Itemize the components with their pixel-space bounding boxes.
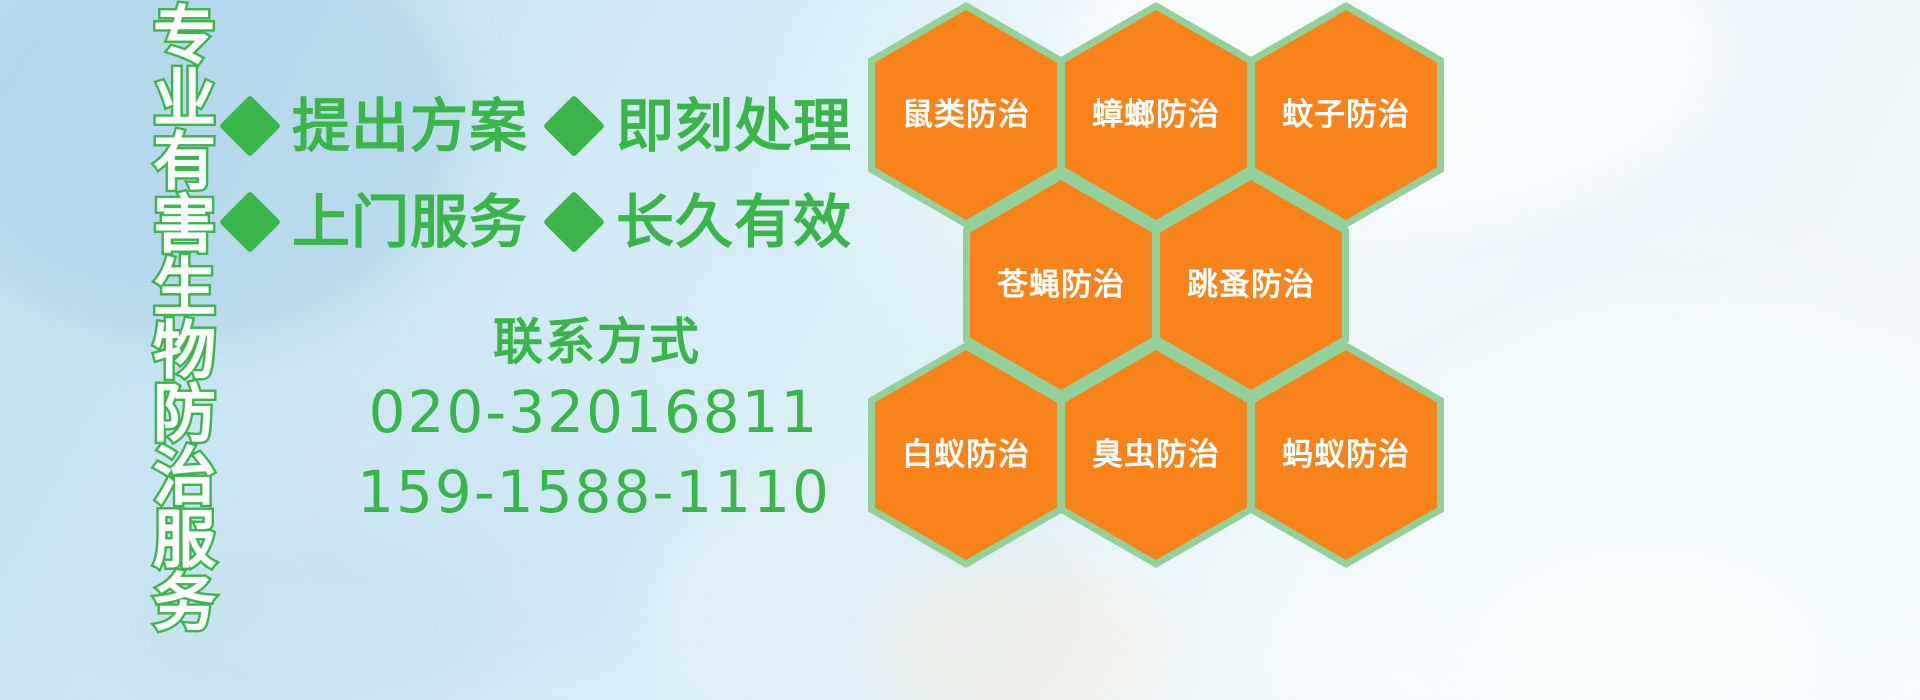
feature-label: 长久有效: [616, 193, 852, 251]
hex-inner: 蚂蚁防治: [1255, 350, 1437, 560]
service-label: 蚊子防治: [1282, 98, 1410, 132]
feature-item-immediate-handling: 即刻处理: [552, 97, 852, 155]
vertical-headline: 专业有害生物防治服务: [106, 2, 210, 700]
service-label: 蚂蚁防治: [1282, 438, 1410, 472]
service-label: 鼠类防治: [902, 98, 1030, 132]
phone-mobile[interactable]: 159-1588-1110: [280, 452, 908, 532]
feature-label: 上门服务: [292, 193, 528, 251]
feature-label: 提出方案: [292, 97, 528, 155]
hex-inner: 臭虫防治: [1065, 350, 1247, 560]
feature-item-onsite-service: 上门服务: [228, 193, 528, 251]
diamond-bullet-icon: [543, 191, 605, 253]
hex-inner: 蟑螂防治: [1065, 10, 1247, 220]
hex-inner: 白蚁防治: [875, 350, 1057, 560]
contact-title: 联系方式: [286, 312, 908, 372]
feature-list: 提出方案 即刻处理 上门服务 长久有效: [228, 78, 888, 270]
diamond-bullet-icon: [219, 191, 281, 253]
feature-row: 上门服务 长久有效: [228, 174, 888, 270]
feature-item-propose-plan: 提出方案: [228, 97, 528, 155]
hex-inner: 鼠类防治: [875, 10, 1057, 220]
service-hexagon-grid: 鼠类防治 蟑螂防治 蚊子防治 苍蝇防治 跳蚤防治 白蚁防治 臭虫防治 蚂蚁防治: [862, 0, 1462, 700]
feature-item-long-lasting: 长久有效: [552, 193, 852, 251]
hex-inner: 蚊子防治: [1255, 10, 1437, 220]
service-label: 白蚁防治: [902, 438, 1030, 472]
service-label: 跳蚤防治: [1187, 268, 1315, 302]
feature-label: 即刻处理: [616, 97, 852, 155]
phone-landline[interactable]: 020-32016811: [280, 372, 908, 452]
diamond-bullet-icon: [219, 95, 281, 157]
hex-inner: 苍蝇防治: [970, 180, 1152, 390]
diamond-bullet-icon: [543, 95, 605, 157]
service-label: 臭虫防治: [1092, 438, 1220, 472]
background-blob: [1480, 560, 1810, 700]
service-label: 苍蝇防治: [997, 268, 1125, 302]
hex-inner: 跳蚤防治: [1160, 180, 1342, 390]
feature-row: 提出方案 即刻处理: [228, 78, 888, 174]
contact-block: 联系方式 020-32016811 159-1588-1110: [228, 312, 908, 532]
service-label: 蟑螂防治: [1092, 98, 1220, 132]
